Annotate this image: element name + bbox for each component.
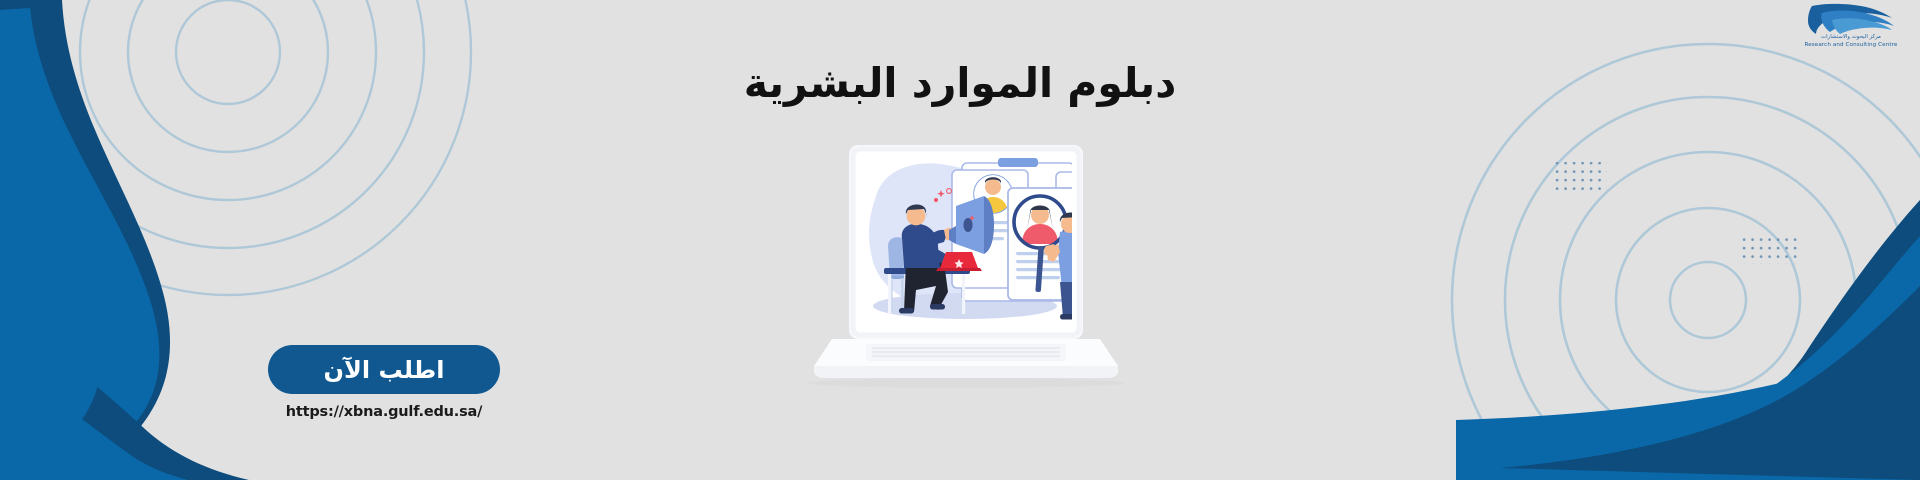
- order-now-button[interactable]: اطلب الآن: [268, 345, 500, 394]
- laptop-base: [808, 339, 1124, 388]
- logo-arabic-text: مركز البحوث والاستشارات: [1792, 34, 1910, 40]
- website-url[interactable]: https://xbna.gulf.edu.sa/: [268, 404, 500, 420]
- organization-logo[interactable]: مركز البحوث والاستشارات Research and Con…: [1792, 2, 1910, 54]
- promo-banner: دبلوم الموارد البشرية: [0, 0, 1920, 480]
- wave-swoosh-icon: [1792, 2, 1910, 36]
- logo-english-text: Research and Consulting Centre: [1792, 42, 1910, 48]
- order-now-label: اطلب الآن: [324, 358, 445, 382]
